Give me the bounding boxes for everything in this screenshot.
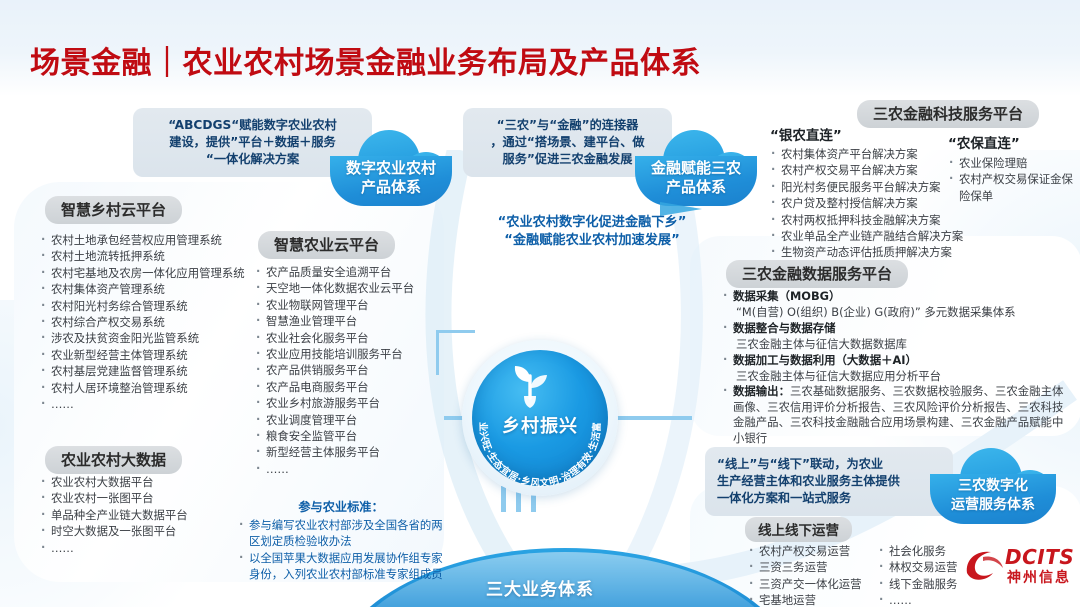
- online-offline-header: 线上线下运营: [745, 517, 852, 542]
- bank-direct-list: 农村集体资产平台解决方案 农村产权交易平台解决方案 阳光村务便民服务平台解决方案…: [770, 146, 970, 277]
- data-platform-row-title: 数据输出：: [733, 384, 790, 398]
- list-item: 农村两权抵押科技金融解决方案: [770, 212, 970, 228]
- list-item: 农产品供销服务平台: [255, 362, 445, 378]
- cloud-finance-empower-line-2: 产品体系: [635, 178, 757, 197]
- big-data-header: 农业农村大数据: [45, 446, 182, 474]
- list-item: 新型经营主体服务平台: [255, 444, 445, 460]
- callout-bottom-right-line-2: 生产经营主体和农业服务主体提供: [717, 473, 941, 490]
- insurance-direct-block: “农保直连” 农业保险理赔 农村产权交易保证金保险保单: [948, 132, 1076, 204]
- callout-bottom-right-line-1: “线上”与“线下”联动，为农业: [717, 456, 941, 473]
- list-item: 农村人居环境整治管理系统: [40, 380, 280, 396]
- cloud-digital-operations-line-1: 三农数字化: [930, 477, 1056, 496]
- list-item: 三资产交一体化运营: [748, 576, 876, 592]
- callout-left-line-2: 建设，提供”平台＋数据＋服务: [145, 134, 360, 151]
- smart-agriculture-list: 农产品质量安全追溯平台 天空地一体化数据农业云平台 农业物联网管理平台 智慧渔业…: [255, 264, 445, 477]
- list-item: 天空地一体化数据农业云平台: [255, 280, 445, 296]
- list-item: 智慧渔业管理平台: [255, 313, 445, 329]
- list-item: 农村宅基地及农房一体化应用管理系统: [40, 265, 280, 281]
- data-platform-row: 数据采集（MOBG）: [722, 288, 1074, 304]
- standards-block: 参与农业标准： 参与编写农业农村部涉及全国各省的两区划定质检验收办法 以全国苹果…: [238, 497, 444, 583]
- cloud-finance-empower[interactable]: 金融赋能三农 产品体系: [635, 130, 757, 206]
- data-platform-row-sub: “M(自营) O(组织) B(企业) G(政府)” 多元数据采集体系: [722, 304, 1074, 320]
- list-item: 农产品质量安全追溯平台: [255, 264, 445, 280]
- list-item: 阳光村务便民服务平台解决方案: [770, 179, 970, 195]
- list-item: 三资三务运营: [748, 559, 876, 575]
- list-item: 农村土地流转抵押系统: [40, 248, 280, 264]
- core-arc-text: 产业兴旺·生态宜居·乡风文明·治理有效·生活富裕: [462, 340, 618, 496]
- bank-direct-title: “银农直连”: [770, 124, 970, 144]
- logo-text-cn: 神州信息: [1007, 567, 1071, 587]
- big-data-header-wrap: 农业农村大数据: [45, 446, 182, 474]
- dcits-logo: DCITS 神州信息: [963, 543, 1075, 591]
- cloud-digital-operations-line-2: 运营服务体系: [930, 496, 1056, 515]
- page-title: 场景金融｜农业农村场景金融业务布局及产品体系: [30, 38, 701, 82]
- infographic-canvas: 三大业务体系 场景金融｜农业农村场景金融业务布局及产品体系 “ABCDGS“赋能…: [0, 0, 1080, 607]
- bank-direct-block: “银农直连” 农村集体资产平台解决方案 农村产权交易平台解决方案 阳光村务便民服…: [770, 124, 970, 277]
- list-item: 宅基地运营: [748, 592, 876, 607]
- list-item: ……: [255, 461, 445, 477]
- insurance-direct-list: 农业保险理赔 农村产权交易保证金保险保单: [948, 155, 1076, 204]
- list-item: 单品种全产业链大数据平台: [40, 507, 260, 523]
- callout-left-line-1: “ABCDGS“赋能数字农业农村: [145, 117, 360, 134]
- list-item: 农业乡村旅游服务平台: [255, 395, 445, 411]
- data-platform-row-title: 数据采集（MOBG）: [733, 289, 840, 303]
- list-item: ……: [40, 396, 280, 412]
- list-item: 农业保险理赔: [948, 155, 1076, 171]
- list-item: 农业新型经营主体管理系统: [40, 347, 280, 363]
- callout-bottom-right: “线上”与“线下”联动，为农业 生产经营主体和农业服务主体提供 一体化方案和一站…: [705, 447, 953, 516]
- data-platform-header-wrap: 三农金融数据服务平台: [726, 260, 908, 288]
- list-item: 农业农村大数据平台: [40, 474, 260, 490]
- list-item: 农村产权交易平台解决方案: [770, 162, 970, 178]
- list-item: 农村基层党建监督管理系统: [40, 363, 280, 379]
- center-core[interactable]: 乡村振兴 产业兴旺·生态宜居·乡风文明·治理有效·生活富裕: [462, 340, 618, 496]
- callout-middle-line-1: “三农”与“金融”的连接器: [475, 117, 660, 134]
- list-item: ……: [878, 592, 988, 607]
- smart-agriculture-header-wrap: 智慧农业云平台: [258, 231, 395, 259]
- smart-agriculture-header: 智慧农业云平台: [258, 231, 395, 259]
- list-item: 以全国苹果大数据应用发展协作组专家身份，入列农业农村部标准专家组成员: [238, 550, 444, 583]
- standards-header: 参与农业标准：: [238, 497, 444, 515]
- list-item: ……: [40, 540, 260, 556]
- list-item: 农户贷及整村授信解决方案: [770, 195, 970, 211]
- cloud-digital-agriculture-line-2: 产品体系: [330, 178, 452, 197]
- online-offline-col1-wrap: 农村产权交易运营 三资三务运营 三资产交一体化运营 宅基地运营: [748, 543, 876, 607]
- smart-agriculture-list-wrap: 农产品质量安全追溯平台 天空地一体化数据农业云平台 农业物联网管理平台 智慧渔业…: [255, 264, 445, 477]
- list-item: 农村土地承包经营权应用管理系统: [40, 232, 280, 248]
- center-slogan-line-1: “农业农村数字化促进金融下乡”: [452, 214, 732, 232]
- list-item: 农业应用技能培训服务平台: [255, 346, 445, 362]
- data-platform-rows: 数据采集（MOBG） “M(自营) O(组织) B(企业) G(政府)” 多元数…: [722, 288, 1074, 446]
- data-platform-row-title: 数据加工与数据利用（大数据＋AI）: [733, 353, 917, 367]
- dcits-swoosh-icon: [963, 547, 1005, 585]
- logo-text-en: DCITS: [1005, 545, 1074, 569]
- callout-middle-line-3: 服务”促进三农金融发展: [475, 151, 660, 168]
- standards-list: 参与编写农业农村部涉及全国各省的两区划定质检验收办法 以全国苹果大数据应用发展协…: [238, 517, 444, 583]
- list-item: 农村阳光村务综合管理系统: [40, 298, 280, 314]
- list-item: 时空大数据及一张图平台: [40, 523, 260, 539]
- online-offline-header-wrap: 线上线下运营: [745, 517, 852, 542]
- center-slogan: “农业农村数字化促进金融下乡” “金融赋能农业农村加速发展”: [452, 214, 732, 250]
- list-item: 农业社会化服务平台: [255, 330, 445, 346]
- data-platform-row-sub: 三农金融主体与征信大数据数据库: [722, 336, 1074, 352]
- connector-right: [612, 416, 692, 420]
- callout-middle-line-2: ，通过“搭场景、建平台、做: [475, 134, 660, 151]
- list-item: 农村集体资产平台解决方案: [770, 146, 970, 162]
- big-data-list-wrap: 农业农村大数据平台 农业农村一张图平台 单品种全产业链大数据平台 时空大数据及一…: [40, 474, 260, 556]
- list-item: 涉农及扶贫资金阳光监管系统: [40, 330, 280, 346]
- list-item: 参与编写农业农村部涉及全国各省的两区划定质检验收办法: [238, 517, 444, 550]
- smart-village-header: 智慧乡村云平台: [45, 196, 182, 224]
- list-item: 农村产权交易保证金保险保单: [948, 171, 1076, 204]
- cloud-digital-operations[interactable]: 三农数字化 运营服务体系: [930, 448, 1056, 524]
- callout-bottom-right-line-3: 一体化方案和一站式服务: [717, 490, 941, 507]
- core-arc-text-label: 产业兴旺·生态宜居·乡风文明·治理有效·生活富裕: [462, 340, 603, 489]
- big-data-list: 农业农村大数据平台 农业农村一张图平台 单品种全产业链大数据平台 时空大数据及一…: [40, 474, 260, 556]
- insurance-direct-title: “农保直连”: [948, 132, 1076, 152]
- data-platform-row-title: 数据整合与数据存储: [733, 321, 836, 335]
- cloud-digital-agriculture-line-1: 数字农业农村: [330, 159, 452, 178]
- list-item: 农产品电商服务平台: [255, 379, 445, 395]
- smart-village-list: 农村土地承包经营权应用管理系统 农村土地流转抵押系统 农村宅基地及农房一体化应用…: [40, 232, 280, 412]
- list-item: 农村产权交易运营: [748, 543, 876, 559]
- list-item: 农业农村一张图平台: [40, 490, 260, 506]
- list-item: 农业单品全产业链产融结合解决方案: [770, 228, 970, 244]
- callout-left-line-3: “一体化解决方案: [145, 151, 360, 168]
- smart-village-list-wrap: 农村土地承包经营权应用管理系统 农村土地流转抵押系统 农村宅基地及农房一体化应用…: [40, 232, 280, 412]
- list-item: 农村综合产权交易系统: [40, 314, 280, 330]
- data-platform-row: 数据整合与数据存储: [722, 320, 1074, 336]
- cloud-finance-empower-line-1: 金融赋能三农: [635, 159, 757, 178]
- list-item: 农业物联网管理平台: [255, 297, 445, 313]
- data-platform-row-output: 数据输出：三农基础数据服务、三农数据校验服务、三农金融主体画像、三农信用评价分析…: [722, 384, 1074, 446]
- cloud-digital-agriculture[interactable]: 数字农业农村 产品体系: [330, 130, 452, 206]
- list-item: 粮食安全监管平台: [255, 428, 445, 444]
- center-slogan-line-2: “金融赋能农业农村加速发展”: [452, 232, 732, 250]
- list-item: 农村集体资产管理系统: [40, 281, 280, 297]
- online-offline-col1: 农村产权交易运营 三资三务运营 三资产交一体化运营 宅基地运营: [748, 543, 876, 607]
- list-item: 农业调度管理平台: [255, 412, 445, 428]
- smart-village-header-wrap: 智慧乡村云平台: [45, 196, 182, 224]
- data-platform-row-sub: 三农金融主体与征信大数据应用分析平台: [722, 368, 1074, 384]
- data-platform-row: 数据加工与数据利用（大数据＋AI）: [722, 352, 1074, 368]
- list-item: 生物资产动态评估抵质押解决方案: [770, 244, 970, 260]
- data-platform-header: 三农金融数据服务平台: [726, 260, 908, 288]
